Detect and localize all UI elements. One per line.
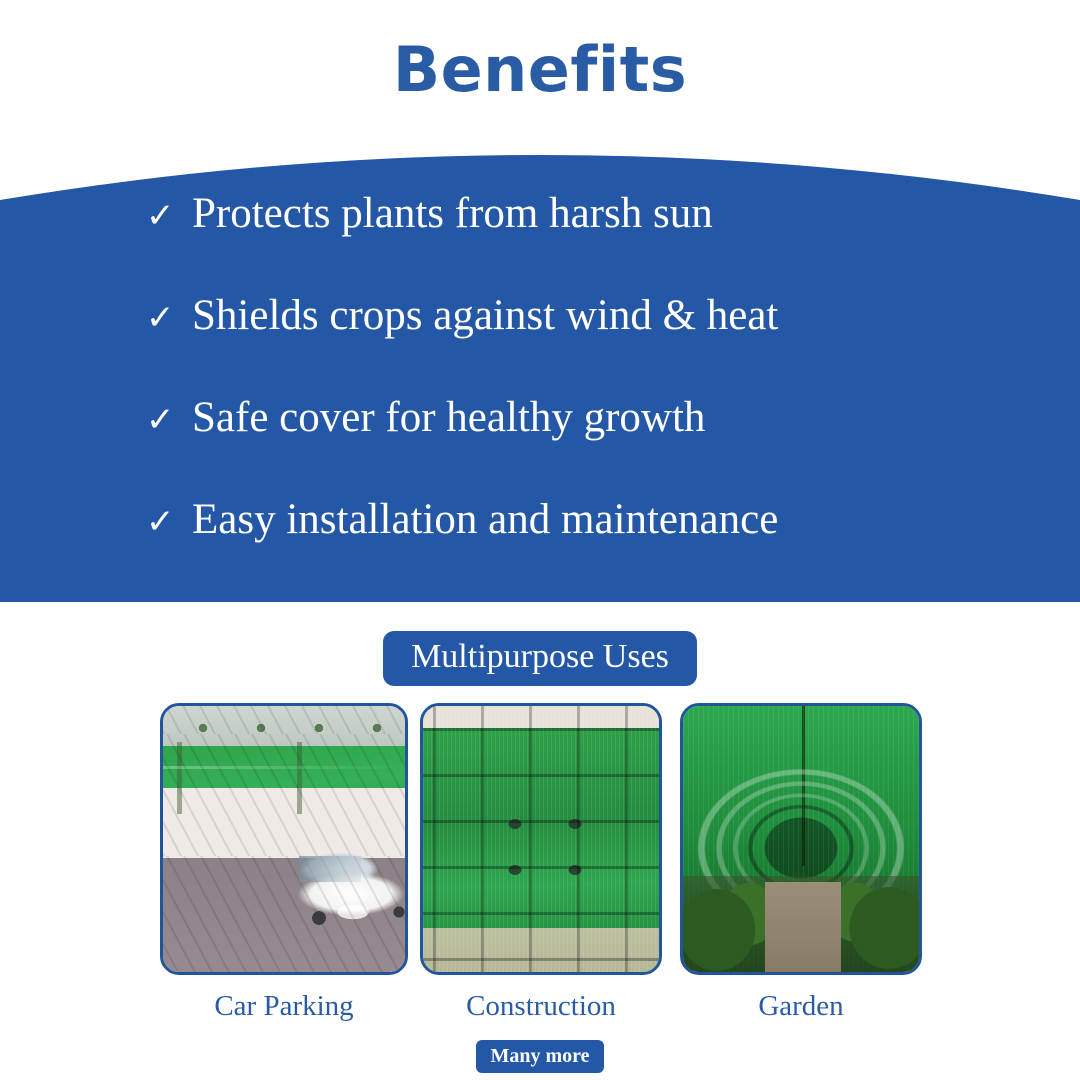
construction-photo	[423, 706, 659, 972]
multipurpose-uses-section-header: Multipurpose Uses	[0, 631, 1080, 686]
use-card-garden[interactable]: Garden	[680, 703, 922, 1021]
garden-photo	[683, 706, 919, 972]
benefit-text: Shields crops against wind & heat	[192, 294, 778, 337]
use-cards-row: Car Parking Construction Garden	[0, 703, 1080, 1033]
benefit-text: Protects plants from harsh sun	[192, 192, 713, 235]
check-icon: ✓	[146, 505, 192, 539]
many-more-badge[interactable]: Many more	[476, 1040, 603, 1073]
many-more-section: Many more	[0, 1040, 1080, 1073]
benefit-text: Safe cover for healthy growth	[192, 396, 705, 439]
use-card-image-frame	[680, 703, 922, 975]
use-card-car-parking[interactable]: Car Parking	[160, 703, 408, 1021]
use-card-caption: Car Parking	[160, 992, 408, 1021]
benefit-item: ✓ Safe cover for healthy growth	[0, 396, 1080, 498]
check-icon: ✓	[146, 403, 192, 437]
multipurpose-uses-badge: Multipurpose Uses	[383, 631, 697, 686]
use-card-image-frame	[160, 703, 408, 975]
check-icon: ✓	[146, 301, 192, 335]
use-card-caption: Construction	[420, 992, 662, 1021]
page-title: Benefits	[393, 39, 687, 101]
use-card-image-frame	[420, 703, 662, 975]
benefit-item: ✓ Protects plants from harsh sun	[0, 192, 1080, 294]
page-header: Benefits	[0, 0, 1080, 134]
benefit-item: ✓ Shields crops against wind & heat	[0, 294, 1080, 396]
check-icon: ✓	[146, 199, 192, 233]
benefits-list: ✓ Protects plants from harsh sun ✓ Shiel…	[0, 190, 1080, 600]
use-card-caption: Garden	[680, 992, 922, 1021]
use-card-construction[interactable]: Construction	[420, 703, 662, 1021]
benefit-text: Easy installation and maintenance	[192, 498, 778, 541]
benefit-item: ✓ Easy installation and maintenance	[0, 498, 1080, 600]
car-parking-photo	[163, 706, 405, 972]
